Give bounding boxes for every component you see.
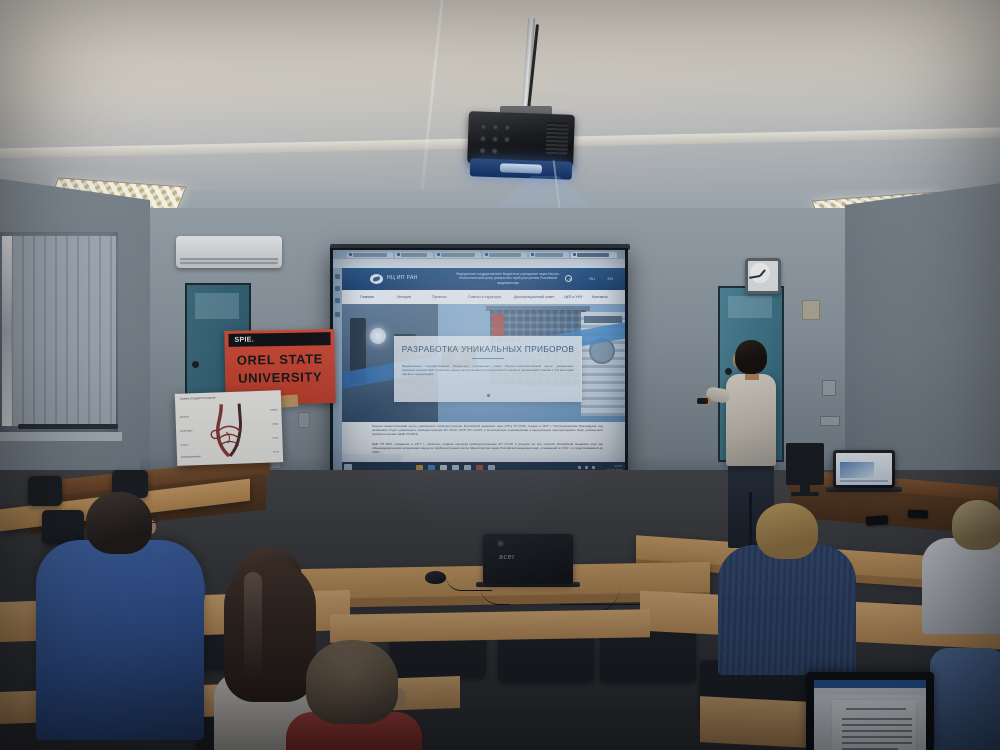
- glasses: [140, 516, 158, 523]
- right-laptop-text: [840, 480, 888, 482]
- presentation-clicker[interactable]: [697, 398, 708, 404]
- poster-label-2: капилляры: [180, 429, 192, 432]
- document-toolbar: [814, 688, 926, 695]
- spie-logo-text: SPIE.: [234, 336, 254, 343]
- poster-vascular-diagram: Схема сосудистого русла артерия капилляр…: [175, 390, 283, 466]
- attendee-sweater: [36, 540, 204, 740]
- poster-label-6: сосуд: [272, 422, 278, 425]
- laptop-camera-icon: [497, 540, 504, 547]
- poster-label-5: лимфа: [270, 408, 278, 411]
- presenter-shirt: [726, 374, 776, 466]
- poster-label-1: артерия: [180, 415, 189, 418]
- monitor-foot: [791, 492, 819, 496]
- projected-screen: НЦ ИП РАН Федеральное государственное бю…: [333, 250, 625, 474]
- nav-item-projects[interactable]: Проекты: [432, 295, 446, 299]
- lecture-room-photo: НЦ ИП РАН Федеральное государственное бю…: [0, 0, 1000, 750]
- air-conditioner-vent: [180, 258, 278, 266]
- poster-white-title: Схема сосудистого русла: [180, 395, 216, 400]
- desktop-monitor: [786, 443, 824, 485]
- hero-lamp: [370, 328, 386, 344]
- hero-title: РАЗРАБОТКА УНИКАЛЬНЫХ ПРИБОРОВ: [394, 344, 582, 354]
- favicon: [573, 253, 576, 256]
- hero-text-card: РАЗРАБОТКА УНИКАЛЬНЫХ ПРИБОРОВ Федеральн…: [394, 336, 582, 402]
- document-ribbon: [814, 680, 926, 688]
- window-light-glow: [2, 236, 12, 426]
- door-window: [728, 296, 772, 318]
- tray-language-icon[interactable]: [592, 466, 595, 469]
- right-laptop[interactable]: [833, 450, 895, 488]
- poster-label-3: венула: [181, 443, 189, 446]
- wall-socket[interactable]: [822, 380, 836, 396]
- document-sidebar: [814, 695, 830, 750]
- favicon: [531, 253, 534, 256]
- right-laptop-image: [840, 462, 874, 478]
- chair[interactable]: [42, 510, 84, 544]
- tray-network-icon[interactable]: [578, 466, 581, 469]
- desk-foreground-center: [330, 609, 650, 643]
- presenter-leg-split: [749, 492, 752, 548]
- attendee-head: [86, 492, 152, 554]
- projector-vent: [545, 122, 568, 155]
- site-nav: Главная История Проекты Советы и структу…: [342, 290, 625, 304]
- favicon: [397, 253, 400, 256]
- smartphone-right[interactable]: [866, 515, 889, 526]
- nav-item-history[interactable]: История: [397, 295, 411, 299]
- browser-tab[interactable]: [395, 252, 433, 258]
- lang-option-ru[interactable]: RU: [589, 276, 595, 281]
- spie-banner: SPIE.: [228, 332, 330, 347]
- nav-item-councils[interactable]: Советы и структура: [468, 295, 501, 299]
- favicon: [437, 253, 440, 256]
- vertical-blinds-icon[interactable]: [2, 236, 116, 426]
- browser-tab[interactable]: [483, 252, 527, 258]
- site-paragraph-1: Научно-технологический центр уникального…: [372, 424, 603, 437]
- browser-tab[interactable]: [529, 252, 569, 258]
- site-hero: РАЗРАБОТКА УНИКАЛЬНЫХ ПРИБОРОВ Федеральн…: [342, 304, 625, 422]
- search-icon[interactable]: [565, 275, 573, 283]
- browser-tab-active[interactable]: [571, 252, 617, 258]
- nav-item-home[interactable]: Главная: [360, 295, 374, 299]
- usb-mouse[interactable]: [425, 571, 446, 584]
- door-window: [195, 293, 239, 319]
- explorer-window-edge: [342, 454, 402, 462]
- nav-item-contacts[interactable]: Контакты: [592, 295, 608, 299]
- lang-option-en[interactable]: EN: [607, 276, 613, 281]
- poster-label-4: микроциркуляция: [181, 455, 201, 459]
- acer-logo-text: acer: [499, 554, 515, 561]
- attendee-striped-shirt: [718, 545, 856, 675]
- site-header-title: Федеральное государственное бюджетное уч…: [452, 272, 564, 285]
- poster-label-8: отток: [273, 450, 279, 453]
- poster-line-2: UNIVERSITY: [225, 369, 335, 386]
- favicon: [485, 253, 488, 256]
- wall-plate: [802, 300, 820, 320]
- hero-banner-red: [492, 314, 504, 336]
- bottom-right-laptop-screen: [814, 680, 926, 750]
- favicon: [349, 253, 352, 256]
- wall-socket[interactable]: [820, 416, 840, 426]
- window-sill: [0, 432, 122, 441]
- poster-line-1: OREL STATE: [225, 351, 335, 368]
- window-rail: [18, 424, 118, 429]
- document-page: [832, 700, 916, 750]
- hair-highlight: [244, 572, 262, 682]
- attendee-head: [952, 500, 1000, 550]
- wall-socket[interactable]: [298, 412, 310, 428]
- browser-tab[interactable]: [435, 252, 481, 258]
- acer-laptop[interactable]: acer: [483, 534, 573, 584]
- chair[interactable]: [28, 476, 62, 506]
- site-header: НЦ ИП РАН Федеральное государственное бю…: [342, 268, 625, 290]
- hero-subtitle: Федеральное государственное бюджетное уч…: [402, 364, 574, 377]
- site-paragraph-2: ЦКБ УП РАН, созданное в 1977 г., являлос…: [372, 442, 603, 455]
- site-logo-icon: [370, 274, 383, 284]
- site-logo-text: НЦ ИП РАН: [387, 275, 418, 281]
- browser-tabstrip: [333, 250, 625, 259]
- nav-item-dissovet[interactable]: Диссертационный совет: [514, 295, 554, 299]
- smartphone-center[interactable]: [908, 509, 928, 518]
- poster-label-7: ткань: [272, 436, 278, 439]
- tray-volume-icon[interactable]: [585, 466, 588, 469]
- attendee-hair: [306, 640, 398, 724]
- vascular-diagram-icon: [205, 401, 253, 459]
- presenter-hair: [735, 340, 767, 374]
- attendee-shirt: [922, 538, 1000, 634]
- right-laptop-screen: [836, 453, 892, 485]
- hero-divider: [472, 358, 504, 359]
- browser-urlbar: [333, 259, 625, 268]
- projector-lens: [500, 163, 542, 173]
- attendee-long-hair: [224, 560, 316, 702]
- nav-item-ckp[interactable]: ЦКП и УНУ: [564, 295, 583, 299]
- carousel-dot[interactable]: [487, 394, 490, 397]
- hero-building-sign: [584, 316, 622, 323]
- attendee-shirt: [930, 648, 1000, 750]
- attendee-head: [756, 503, 818, 559]
- browser-tab[interactable]: [347, 252, 393, 258]
